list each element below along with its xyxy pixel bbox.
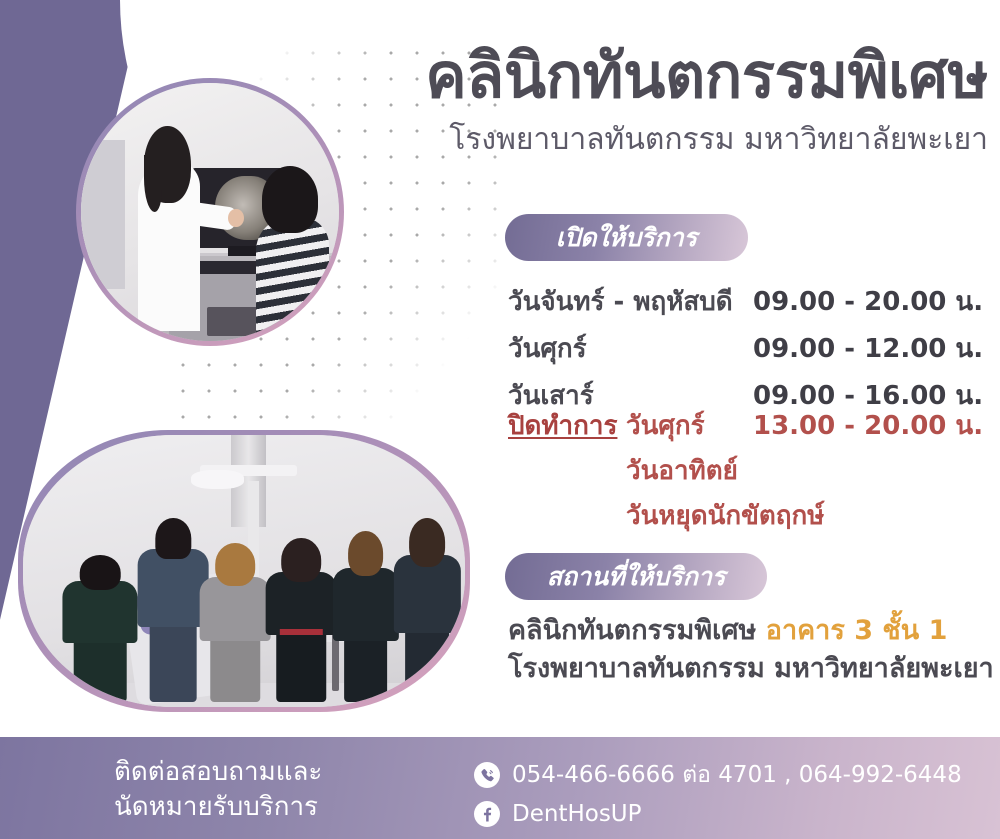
scene-staff-5 [332,527,398,701]
closed-day: วันหยุดนักขัตฤกษ์ [626,495,753,536]
page-subtitle: โรงพยาบาลทันตกรรม มหาวิทยาลัยพะเยา [392,122,988,158]
badge-service-location-label: สถานที่ให้บริการ [547,557,726,597]
closed-day: วันอาทิตย์ [626,450,753,491]
scene-staff-1-legs [74,634,127,702]
scene-staff-4-top [266,572,337,635]
badge-service-location: สถานที่ให้บริการ [505,553,767,600]
photo-dentist-with-patient [76,78,344,346]
opening-hours-row: วันจันทร์ - พฤหัสบดี 09.00 - 20.00 น. [508,281,983,322]
service-location-clinic: คลินิกทันตกรรมพิเศษ [508,615,756,646]
badge-opening-hours: เปิดให้บริการ [505,214,748,261]
footer-facebook-name: DentHosUP [512,801,642,827]
opening-hours-day: วันจันทร์ - พฤหัสบดี [508,281,753,322]
photo-dentist-with-patient-image [81,83,339,341]
closed-label: ปิดทำการ [508,405,626,446]
scene-staff-6-hair [410,518,446,566]
scene-door [81,140,125,290]
scene-staff-4-hair [282,538,322,582]
service-location-line-1: คลินิกทันตกรรมพิเศษ อาคาร 3 ชั้น 1 [508,612,994,650]
service-location-text: คลินิกทันตกรรมพิเศษ อาคาร 3 ชั้น 1 โรงพย… [508,612,994,689]
scene-staff-2-legs [150,615,197,701]
scene-staff-6 [394,517,460,702]
badge-opening-hours-label: เปิดให้บริการ [556,218,697,258]
scene-staff-3-legs [210,632,260,702]
scene-staff-1 [63,555,138,702]
footer-facebook-row[interactable]: DentHosUP [474,801,962,827]
scene-staff-2 [138,506,209,702]
closed-day: วันศุกร์ [626,405,753,446]
service-location-building: อาคาร 3 ชั้น 1 [766,615,948,646]
scene-dental-lamp [191,470,244,489]
scene-staff-3-hair [215,543,255,586]
footer-contact-heading-line-1: ติดต่อสอบถามและ [114,755,322,790]
footer-bar: ติดต่อสอบถามและ นัดหมายรับบริการ 054-466… [0,737,1000,839]
scene-staff-5-hair [348,531,384,576]
scene-staff-6-legs [406,624,450,702]
opening-hours-list: วันจันทร์ - พฤหัสบดี 09.00 - 20.00 น. วั… [508,281,983,422]
opening-hours-time: 09.00 - 12.00 น. [753,328,983,369]
scene-staff-4-belt [280,629,322,635]
photo-dental-team [18,430,470,712]
closed-days-row: ปิดทำการ วันศุกร์ 13.00 - 20.00 น. [508,405,983,446]
footer-phone-row[interactable]: 054-466-6666 ต่อ 4701 , 064-992-6448 [474,757,962,793]
closed-days-row: วันหยุดนักขัตฤกษ์ [508,495,983,536]
scene-staff-1-hair [80,555,121,590]
photo-dental-team-image [23,435,465,707]
scene-staff-2-hair [156,518,191,559]
scene-patient-hair [262,166,319,233]
opening-hours-day: วันศุกร์ [508,328,753,369]
closed-days-row: วันอาทิตย์ [508,450,983,491]
facebook-icon [474,801,500,827]
scene-patient-striped-shirt [256,217,328,341]
scene-staff-5-legs [344,632,388,702]
opening-hours-time: 09.00 - 20.00 น. [753,281,983,322]
opening-hours-row: วันศุกร์ 09.00 - 12.00 น. [508,328,983,369]
scene-staff-3-top [200,577,271,641]
footer-contact-details: 054-466-6666 ต่อ 4701 , 064-992-6448 Den… [474,757,962,835]
footer-phone-number: 054-466-6666 ต่อ 4701 , 064-992-6448 [512,757,962,793]
scene-staff-1-top [63,581,138,643]
footer-contact-heading-line-2: นัดหมายรับบริการ [114,790,322,825]
phone-icon [474,762,500,788]
scene-dentist-hair-strand [144,155,162,212]
scene-staff-4 [266,544,337,702]
scene-dentist-hand [228,209,243,227]
footer-contact-heading: ติดต่อสอบถามและ นัดหมายรับบริการ [114,755,322,824]
scene-staff-4-legs [277,626,327,702]
service-location-line-2: โรงพยาบาลทันตกรรม มหาวิทยาลัยพะเยา [508,650,994,688]
scene-staff-2-top [138,549,209,627]
closed-time: 13.00 - 20.00 น. [753,405,983,446]
scene-staff-5-top [332,568,398,641]
poster-root: คลินิกทันตกรรมพิเศษ โรงพยาบาลทันตกรรม มห… [0,0,1000,839]
scene-staff-6-top [394,555,460,633]
scene-staff-3 [200,549,271,701]
closed-days-list: ปิดทำการ วันศุกร์ 13.00 - 20.00 น. วันอา… [508,405,983,540]
page-title: คลินิกทันตกรรมพิเศษ [392,44,988,107]
